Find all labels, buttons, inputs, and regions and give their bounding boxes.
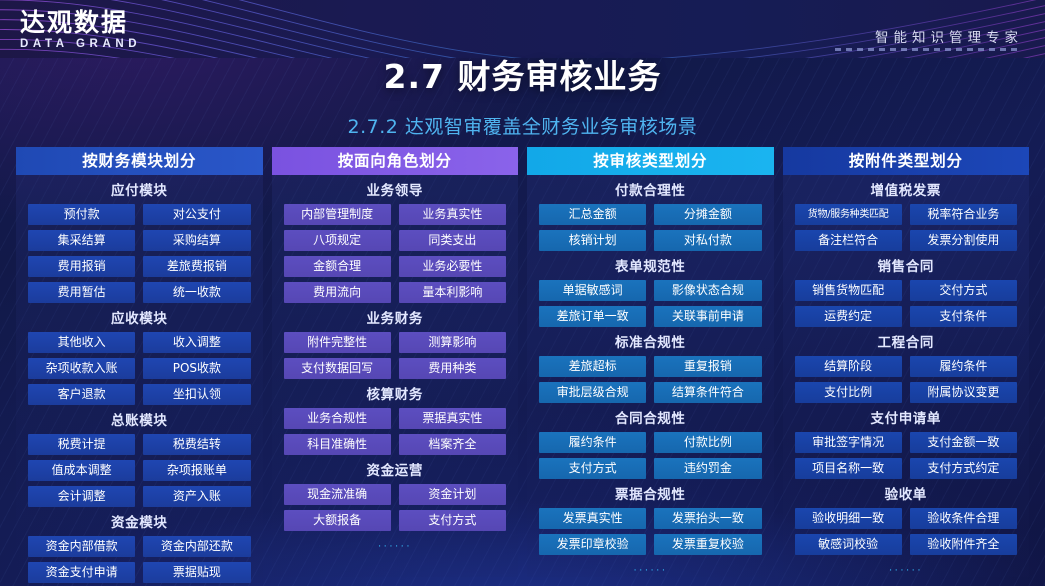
scenario-chip[interactable]: 汇总金额 [539,204,646,225]
chip-grid: 资金内部借款资金内部还款资金支付申请票据贴现 [16,536,263,583]
scenario-chip[interactable]: 对私付款 [654,230,761,251]
chip-grid: 税费计提税费结转值成本调整杂项报账单会计调整资产入账 [16,434,263,507]
category-group: 应付模块预付款对公支付集采结算采购结算费用报销差旅费报销费用暂估统一收款 [16,183,263,303]
scenario-chip[interactable]: 值成本调整 [28,460,135,481]
scenario-chip[interactable]: 发票真实性 [539,508,646,529]
scenario-chip[interactable]: 同类支出 [399,230,506,251]
chip-grid: 内部管理制度业务真实性八项规定同类支出金额合理业务必要性费用流向量本利影响 [272,204,519,303]
scenario-chip[interactable]: 支付方式约定 [910,458,1017,479]
category-group: 表单规范性单据敏感词影像状态合规差旅订单一致关联事前申请 [527,259,774,327]
scenario-chip[interactable]: 其他收入 [28,332,135,353]
scenario-chip[interactable]: 交付方式 [910,280,1017,301]
category-group: 总账模块税费计提税费结转值成本调整杂项报账单会计调整资产入账 [16,413,263,507]
scenario-chip[interactable]: 内部管理制度 [284,204,391,225]
scenario-chip[interactable]: 客户退款 [28,384,135,405]
scenario-chip[interactable]: 支付金额一致 [910,432,1017,453]
scenario-chip[interactable]: 票据真实性 [399,408,506,429]
group-title: 工程合同 [783,335,1030,351]
scenario-chip[interactable]: 现金流准确 [284,484,391,505]
scenario-chip[interactable]: 费用暂估 [28,282,135,303]
chip-grid: 现金流准确资金计划大额报备支付方式 [272,484,519,531]
scenario-chip[interactable]: 附属协议变更 [910,382,1017,403]
category-group: 增值税发票货物/服务种类匹配税率符合业务备注栏符合发票分割使用 [783,183,1030,251]
group-title: 业务领导 [272,183,519,199]
category-group: 业务财务附件完整性测算影响支付数据回写费用种类 [272,311,519,379]
category-group: 票据合规性发票真实性发票抬头一致发票印章校验发票重复校验 [527,487,774,555]
scenario-chip[interactable]: 差旅费报销 [143,256,250,277]
category-group: 核算财务业务合规性票据真实性科目准确性档案齐全 [272,387,519,455]
brand-tagline: 智能知识管理专家 [875,26,1023,46]
scenario-chip[interactable]: 敏感词校验 [795,534,902,555]
group-title: 票据合规性 [527,487,774,503]
scenario-chip[interactable]: 坐扣认领 [143,384,250,405]
chip-grid: 单据敏感词影像状态合规差旅订单一致关联事前申请 [527,280,774,327]
category-columns: 按财务模块划分应付模块预付款对公支付集采结算采购结算费用报销差旅费报销费用暂估统… [16,147,1029,577]
chip-grid: 预付款对公支付集采结算采购结算费用报销差旅费报销费用暂估统一收款 [16,204,263,303]
chip-grid: 业务合规性票据真实性科目准确性档案齐全 [272,408,519,455]
group-title: 支付申请单 [783,411,1030,427]
scenario-chip[interactable]: 发票抬头一致 [654,508,761,529]
logo-english: DATA GRAND [20,38,141,50]
scenario-chip[interactable]: 备注栏符合 [795,230,902,251]
scenario-chip[interactable]: 结算条件符合 [654,382,761,403]
brand-logo: 达观数据 DATA GRAND [20,9,141,50]
column-header[interactable]: 按财务模块划分 [16,147,263,175]
scenario-chip[interactable]: 税费结转 [143,434,250,455]
group-title: 资金模块 [16,515,263,531]
scenario-chip[interactable]: 票据贴现 [143,562,250,583]
group-title: 标准合规性 [527,335,774,351]
scenario-chip[interactable]: 付款比例 [654,432,761,453]
group-title: 资金运营 [272,463,519,479]
scenario-chip[interactable]: 验收附件齐全 [910,534,1017,555]
scenario-chip[interactable]: 销售货物匹配 [795,280,902,301]
category-group: 合同合规性履约条件付款比例支付方式违约罚金 [527,411,774,479]
column-header[interactable]: 按附件类型划分 [783,147,1030,175]
scenario-chip[interactable]: 资金计划 [399,484,506,505]
scenario-chip[interactable]: 税费计提 [28,434,135,455]
scenario-chip[interactable]: 关联事前申请 [654,306,761,327]
chip-grid: 审批签字情况支付金额一致项目名称一致支付方式约定 [783,432,1030,479]
group-title: 核算财务 [272,387,519,403]
group-title: 付款合理性 [527,183,774,199]
category-group: 应收模块其他收入收入调整杂项收款入账POS收款客户退款坐扣认领 [16,311,263,405]
page-title: 2.7 财务审核业务 [0,50,1045,98]
group-title: 表单规范性 [527,259,774,275]
category-group: 业务领导内部管理制度业务真实性八项规定同类支出金额合理业务必要性费用流向量本利影… [272,183,519,303]
scenario-chip[interactable]: 测算影响 [399,332,506,353]
scenario-chip[interactable]: 差旅超标 [539,356,646,377]
scenario-chip[interactable]: 支付数据回写 [284,358,391,379]
group-title: 销售合同 [783,259,1030,275]
scenario-chip[interactable]: 运费约定 [795,306,902,327]
scenario-chip[interactable]: 税率符合业务 [910,204,1017,225]
scenario-chip[interactable]: 资金支付申请 [28,562,135,583]
scenario-chip[interactable]: 金额合理 [284,256,391,277]
scenario-chip[interactable]: 违约罚金 [654,458,761,479]
category-group: 资金模块资金内部借款资金内部还款资金支付申请票据贴现 [16,515,263,583]
column-header[interactable]: 按审核类型划分 [527,147,774,175]
scenario-chip[interactable]: 结算阶段 [795,356,902,377]
category-column: 按附件类型划分增值税发票货物/服务种类匹配税率符合业务备注栏符合发票分割使用销售… [783,147,1030,577]
scenario-chip[interactable]: 项目名称一致 [795,458,902,479]
scenario-chip[interactable]: POS收款 [143,358,250,379]
scenario-chip[interactable]: 支付方式 [539,458,646,479]
scenario-chip[interactable]: 大额报备 [284,510,391,531]
group-title: 验收单 [783,487,1030,503]
group-title: 合同合规性 [527,411,774,427]
scenario-chip[interactable]: 审批签字情况 [795,432,902,453]
scenario-chip[interactable]: 收入调整 [143,332,250,353]
chip-grid: 差旅超标重复报销审批层级合规结算条件符合 [527,356,774,403]
scenario-chip[interactable]: 业务真实性 [399,204,506,225]
scenario-chip[interactable]: 业务必要性 [399,256,506,277]
scenario-chip[interactable]: 会计调整 [28,486,135,507]
scenario-chip[interactable]: 集采结算 [28,230,135,251]
scenario-chip[interactable]: 履约条件 [539,432,646,453]
scenario-chip[interactable]: 业务合规性 [284,408,391,429]
tagline-underline [835,48,1021,51]
scenario-chip[interactable]: 分摊金额 [654,204,761,225]
category-column: 按财务模块划分应付模块预付款对公支付集采结算采购结算费用报销差旅费报销费用暂估统… [16,147,263,577]
scenario-chip[interactable]: 资金内部借款 [28,536,135,557]
scenario-chip[interactable]: 费用流向 [284,282,391,303]
chip-grid: 汇总金额分摊金额核销计划对私付款 [527,204,774,251]
more-indicator: ······ [527,564,774,576]
scenario-chip[interactable]: 支付条件 [910,306,1017,327]
logo-chinese: 达观数据 [20,9,141,37]
scenario-chip[interactable]: 杂项收款入账 [28,358,135,379]
scenario-chip[interactable]: 对公支付 [143,204,250,225]
more-indicator: ······ [272,540,519,552]
scenario-chip[interactable]: 支付比例 [795,382,902,403]
chip-grid: 发票真实性发票抬头一致发票印章校验发票重复校验 [527,508,774,555]
scenario-chip[interactable]: 验收条件合理 [910,508,1017,529]
chip-grid: 履约条件付款比例支付方式违约罚金 [527,432,774,479]
scenario-chip[interactable]: 统一收款 [143,282,250,303]
scenario-chip[interactable]: 验收明细一致 [795,508,902,529]
category-column: 按面向角色划分业务领导内部管理制度业务真实性八项规定同类支出金额合理业务必要性费… [272,147,519,577]
category-group: 支付申请单审批签字情况支付金额一致项目名称一致支付方式约定 [783,411,1030,479]
scenario-chip[interactable]: 费用报销 [28,256,135,277]
chip-grid: 货物/服务种类匹配税率符合业务备注栏符合发票分割使用 [783,204,1030,251]
column-header[interactable]: 按面向角色划分 [272,147,519,175]
category-group: 标准合规性差旅超标重复报销审批层级合规结算条件符合 [527,335,774,403]
scenario-chip[interactable]: 附件完整性 [284,332,391,353]
scenario-chip[interactable]: 采购结算 [143,230,250,251]
category-column: 按审核类型划分付款合理性汇总金额分摊金额核销计划对私付款表单规范性单据敏感词影像… [527,147,774,577]
category-group: 付款合理性汇总金额分摊金额核销计划对私付款 [527,183,774,251]
scenario-chip[interactable]: 档案齐全 [399,434,506,455]
scenario-chip[interactable]: 差旅订单一致 [539,306,646,327]
scenario-chip[interactable]: 支付方式 [399,510,506,531]
scenario-chip[interactable]: 八项规定 [284,230,391,251]
chip-grid: 销售货物匹配交付方式运费约定支付条件 [783,280,1030,327]
scenario-chip[interactable]: 货物/服务种类匹配 [795,204,902,225]
scenario-chip[interactable]: 费用种类 [399,358,506,379]
scenario-chip[interactable]: 影像状态合规 [654,280,761,301]
category-group: 销售合同销售货物匹配交付方式运费约定支付条件 [783,259,1030,327]
scenario-chip[interactable]: 杂项报账单 [143,460,250,481]
chip-grid: 结算阶段履约条件支付比例附属协议变更 [783,356,1030,403]
more-indicator: ······ [783,564,1030,576]
chip-grid: 附件完整性测算影响支付数据回写费用种类 [272,332,519,379]
scenario-chip[interactable]: 重复报销 [654,356,761,377]
group-title: 增值税发票 [783,183,1030,199]
category-group: 验收单验收明细一致验收条件合理敏感词校验验收附件齐全 [783,487,1030,555]
scenario-chip[interactable]: 科目准确性 [284,434,391,455]
scenario-chip[interactable]: 量本利影响 [399,282,506,303]
scenario-chip[interactable]: 发票印章校验 [539,534,646,555]
group-title: 业务财务 [272,311,519,327]
slide-canvas: 达观数据 DATA GRAND 智能知识管理专家 2.7 财务审核业务 2.7.… [0,0,1045,586]
chip-grid: 验收明细一致验收条件合理敏感词校验验收附件齐全 [783,508,1030,555]
category-group: 资金运营现金流准确资金计划大额报备支付方式 [272,463,519,531]
scenario-chip[interactable]: 审批层级合规 [539,382,646,403]
scenario-chip[interactable]: 发票分割使用 [910,230,1017,251]
group-title: 应收模块 [16,311,263,327]
page-subtitle: 2.7.2 达观智审覆盖全财务业务审核场景 [0,112,1045,139]
group-title: 总账模块 [16,413,263,429]
category-group: 工程合同结算阶段履约条件支付比例附属协议变更 [783,335,1030,403]
scenario-chip[interactable]: 预付款 [28,204,135,225]
scenario-chip[interactable]: 单据敏感词 [539,280,646,301]
scenario-chip[interactable]: 核销计划 [539,230,646,251]
group-title: 应付模块 [16,183,263,199]
scenario-chip[interactable]: 资产入账 [143,486,250,507]
scenario-chip[interactable]: 发票重复校验 [654,534,761,555]
chip-grid: 其他收入收入调整杂项收款入账POS收款客户退款坐扣认领 [16,332,263,405]
scenario-chip[interactable]: 履约条件 [910,356,1017,377]
scenario-chip[interactable]: 资金内部还款 [143,536,250,557]
